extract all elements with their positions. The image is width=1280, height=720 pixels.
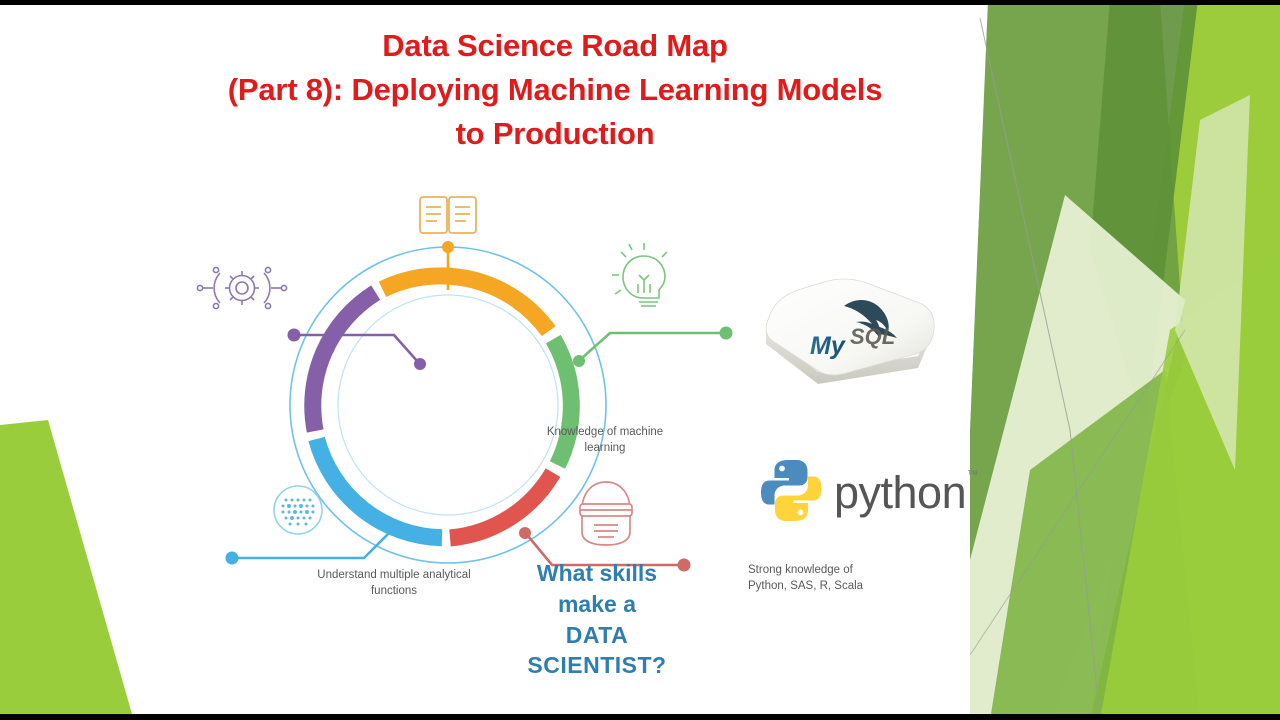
open-book-icon [420, 197, 476, 233]
node-dot-unstructured-inner [387, 523, 399, 535]
node-dot-programming-inner [573, 355, 585, 367]
connector-sql [528, 536, 680, 565]
connector-programming [582, 333, 722, 358]
gear-network-icon [197, 267, 286, 308]
ring-segment-sql [450, 473, 553, 538]
data-scientist-skills-infographic: What skills make a DATA SCIENTIST? Knowl… [150, 180, 770, 650]
title-line-3: to Production [140, 112, 970, 156]
mysql-text-my: My [810, 332, 846, 360]
node-dot-machine-learning [442, 241, 454, 253]
slide-title: Data Science Road Map (Part 8): Deployin… [140, 24, 970, 156]
letterbox-bar-bottom [0, 714, 1280, 720]
ring-segment-unstructured-data [317, 439, 442, 538]
center-line-4: SCIENTIST? [502, 650, 692, 680]
decorative-facet-right [970, 0, 1280, 720]
ring-segment-analytics [313, 293, 376, 431]
vr-head-icon [580, 482, 632, 545]
node-dot-programming-outer [720, 327, 733, 340]
node-dot-analytics-inner [414, 358, 426, 370]
node-dot-unstructured-outer [226, 552, 239, 565]
python-wordmark: python [834, 467, 966, 518]
node-dot-analytics-outer [288, 329, 301, 342]
slide-canvas: Data Science Road Map (Part 8): Deployin… [0, 0, 1280, 720]
python-trademark: ™ [967, 469, 978, 481]
letterbox-bar-top [0, 0, 1280, 5]
mysql-text-sql: SQL [850, 324, 895, 349]
mysql-logo: My SQL [758, 268, 948, 393]
inner-guide-circle [338, 295, 558, 515]
python-logo: python ™ [760, 456, 990, 526]
python-eye-blue [779, 466, 785, 472]
dot-matrix-circle-icon [274, 486, 322, 534]
title-line-2: (Part 8): Deploying Machine Learning Mod… [140, 68, 970, 112]
node-label-programming-languages: Strong knowledge of Python, SAS, R, Scal… [748, 563, 888, 594]
lightbulb-head-icon [612, 243, 667, 306]
python-eye-yellow [798, 510, 804, 516]
ring-segment-machine-learning [383, 276, 549, 331]
node-dot-sql-inner [519, 527, 531, 539]
connector-unstructured-data [236, 532, 390, 558]
node-label-analytical-functions: Understand multiple analytical functions [315, 568, 473, 599]
node-label-machine-learning: Knowledge of machine learning [530, 425, 680, 456]
title-line-1: Data Science Road Map [140, 24, 970, 68]
node-dot-sql-outer [678, 559, 691, 572]
decorative-facet-left [0, 420, 160, 720]
